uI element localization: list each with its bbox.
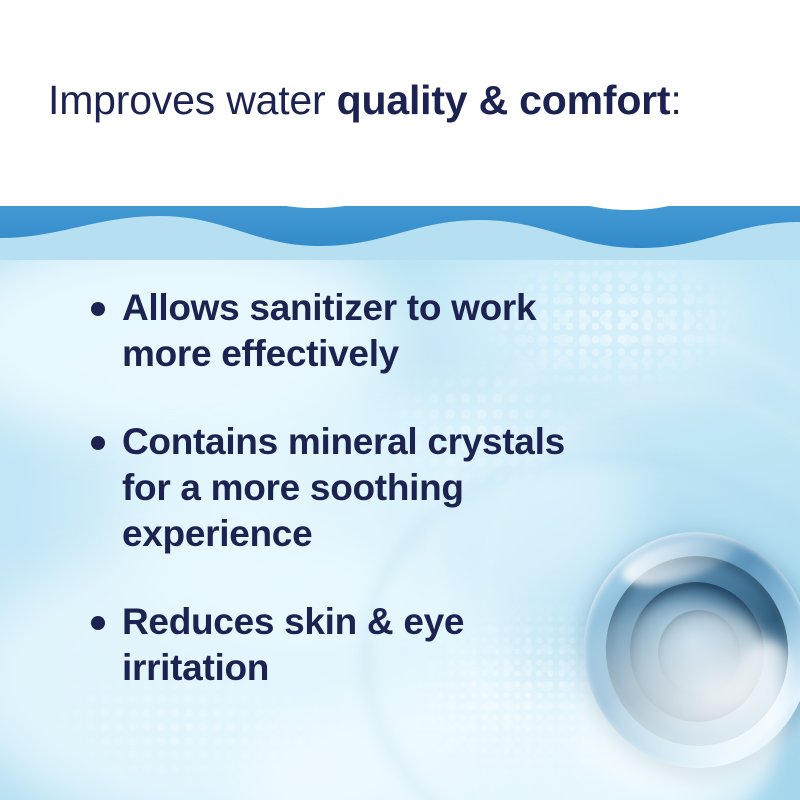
promo-poster: Improves water quality & comfort: Allows… — [0, 0, 800, 800]
list-item: Reduces skin & eye irritation — [0, 599, 800, 691]
list-item: Contains mineral crystals for a more soo… — [0, 419, 800, 557]
headline-regular-text: Improves water — [48, 77, 337, 123]
bullet-dot-icon — [91, 302, 105, 316]
list-item-label: Allows sanitizer to work more effectivel… — [122, 285, 800, 377]
header-band: Improves water quality & comfort: — [0, 0, 800, 206]
headline-bold-text: quality & comfort — [337, 77, 671, 123]
page-title: Improves water quality & comfort: — [48, 74, 682, 126]
bullet-dot-icon — [91, 616, 105, 630]
list-item-label: Contains mineral crystals for a more soo… — [122, 419, 800, 557]
list-item-label: Reduces skin & eye irritation — [122, 599, 800, 691]
foam-wisp — [240, 676, 720, 800]
benefits-list: Allows sanitizer to work more effectivel… — [0, 206, 800, 691]
bullet-dot-icon — [91, 436, 105, 450]
headline-colon: : — [670, 77, 681, 123]
list-item: Allows sanitizer to work more effectivel… — [0, 285, 800, 377]
